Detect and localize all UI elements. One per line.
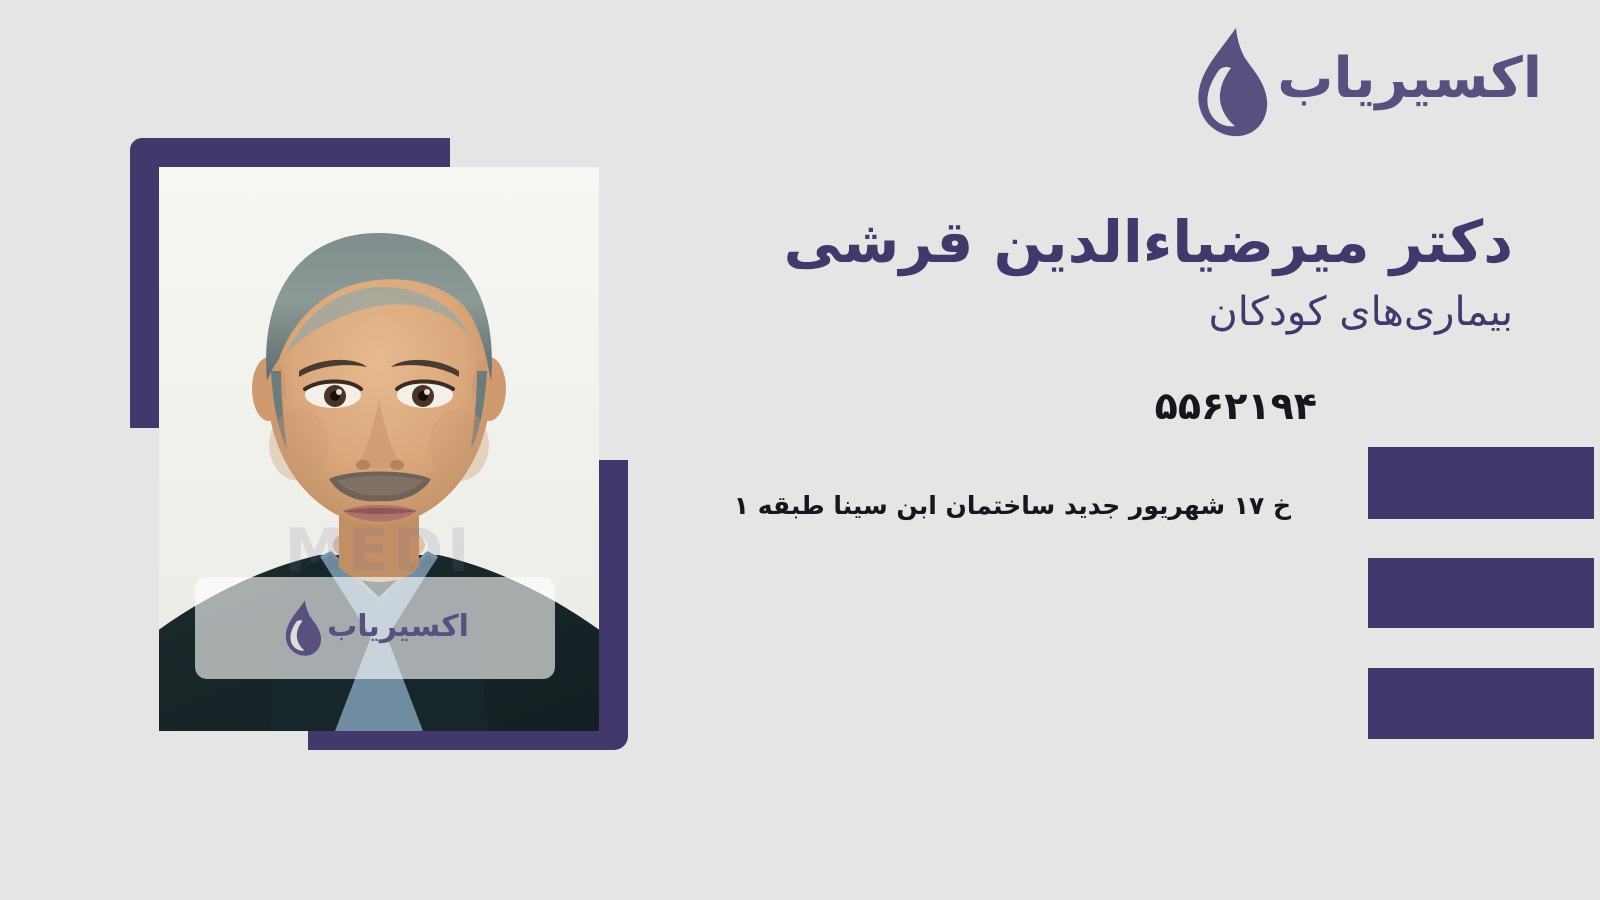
doctor-profile-card: اکسیریاب <box>0 0 1600 900</box>
photo-watermark-wordmark: اکسیریاب <box>327 612 469 644</box>
brand-wordmark: اکسیریاب <box>1277 51 1542 113</box>
brand-logo[interactable]: اکسیریاب <box>1189 22 1542 142</box>
doctor-photo-block: MEDI اکسیریاب <box>130 138 628 750</box>
doctor-name: دکتر میرضیاءالدین قرشی <box>683 205 1513 280</box>
photo-watermark-badge: اکسیریاب <box>195 577 555 679</box>
doctor-portrait: MEDI اکسیریاب <box>159 167 599 731</box>
doctor-phone[interactable]: ۵۵۶۲۱۹۴ <box>683 384 1513 430</box>
doctor-info: دکتر میرضیاءالدین قرشی بیماری‌های کودکان… <box>683 205 1513 523</box>
decorative-bar-3 <box>1368 668 1594 739</box>
photo-ghost-watermark: MEDI <box>285 516 474 586</box>
decorative-bar-2 <box>1368 558 1594 628</box>
flame-droplet-icon <box>1189 26 1271 138</box>
doctor-specialty: بیماری‌های کودکان <box>683 286 1513 338</box>
watermark-flame-droplet-icon <box>281 598 323 658</box>
doctor-address: خ ۱۷ شهریور جدید ساختمان ابن سینا طبقه ۱ <box>683 488 1513 523</box>
